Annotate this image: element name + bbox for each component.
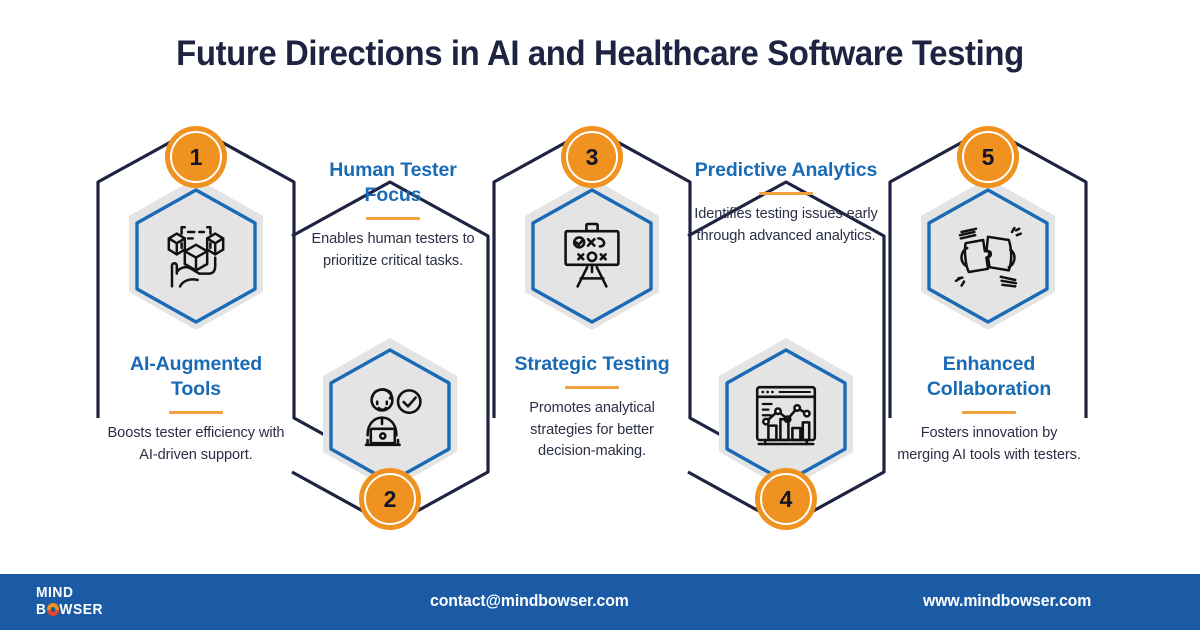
step-badge-1[interactable]: 1	[165, 126, 227, 188]
step-number: 3	[586, 146, 599, 169]
step-number: 1	[190, 146, 203, 169]
title-underline	[759, 192, 813, 196]
step-text-1: AI-Augmented Tools Boosts tester efficie…	[106, 352, 286, 466]
step-text-4: Predictive Analytics Identifies testing …	[694, 158, 878, 247]
step-badge-5[interactable]: 5	[957, 126, 1019, 188]
step-body-2: Enables human testers to prioritize crit…	[302, 229, 484, 271]
contact-email-link[interactable]: contact@mindbowser.com	[430, 591, 629, 611]
step-number: 5	[982, 146, 995, 169]
footer-bar: MIND BWSER contact@mindbowser.com www.mi…	[0, 572, 1200, 630]
step-body-1: Boosts tester efficiency with AI-driven …	[106, 423, 286, 465]
step-text-3: Strategic Testing Promotes analytical st…	[500, 352, 684, 462]
step-title-5: Enhanced Collaboration	[896, 352, 1082, 402]
step-number: 2	[384, 488, 397, 511]
title-underline	[962, 411, 1016, 415]
step-title-2: Human Tester Focus	[302, 158, 484, 208]
step-title-4: Predictive Analytics	[694, 158, 878, 183]
step-title-1: AI-Augmented Tools	[106, 352, 286, 402]
step-text-2: Human Tester Focus Enables human testers…	[302, 158, 484, 272]
step-body-5: Fosters innovation by merging AI tools w…	[896, 423, 1082, 465]
step-body-3: Promotes analytical strategies for bette…	[500, 398, 684, 461]
title-underline	[565, 386, 619, 390]
step-title-3: Strategic Testing	[500, 352, 684, 377]
step-badge-4[interactable]: 4	[755, 468, 817, 530]
infographic-canvas: Future Directions in AI and Healthcare S…	[0, 0, 1200, 630]
infographic-artwork	[0, 0, 1200, 630]
footer-contact-row: contact@mindbowser.com www.mindbowser.co…	[0, 572, 1200, 630]
step-number: 4	[780, 488, 793, 511]
step-text-5: Enhanced Collaboration Fosters innovatio…	[896, 352, 1082, 466]
title-underline	[366, 217, 420, 221]
website-link[interactable]: www.mindbowser.com	[923, 591, 1091, 611]
step-badge-2[interactable]: 2	[359, 468, 421, 530]
step-badge-3[interactable]: 3	[561, 126, 623, 188]
title-underline	[169, 411, 223, 415]
step-body-4: Identifies testing issues early through …	[694, 204, 878, 246]
